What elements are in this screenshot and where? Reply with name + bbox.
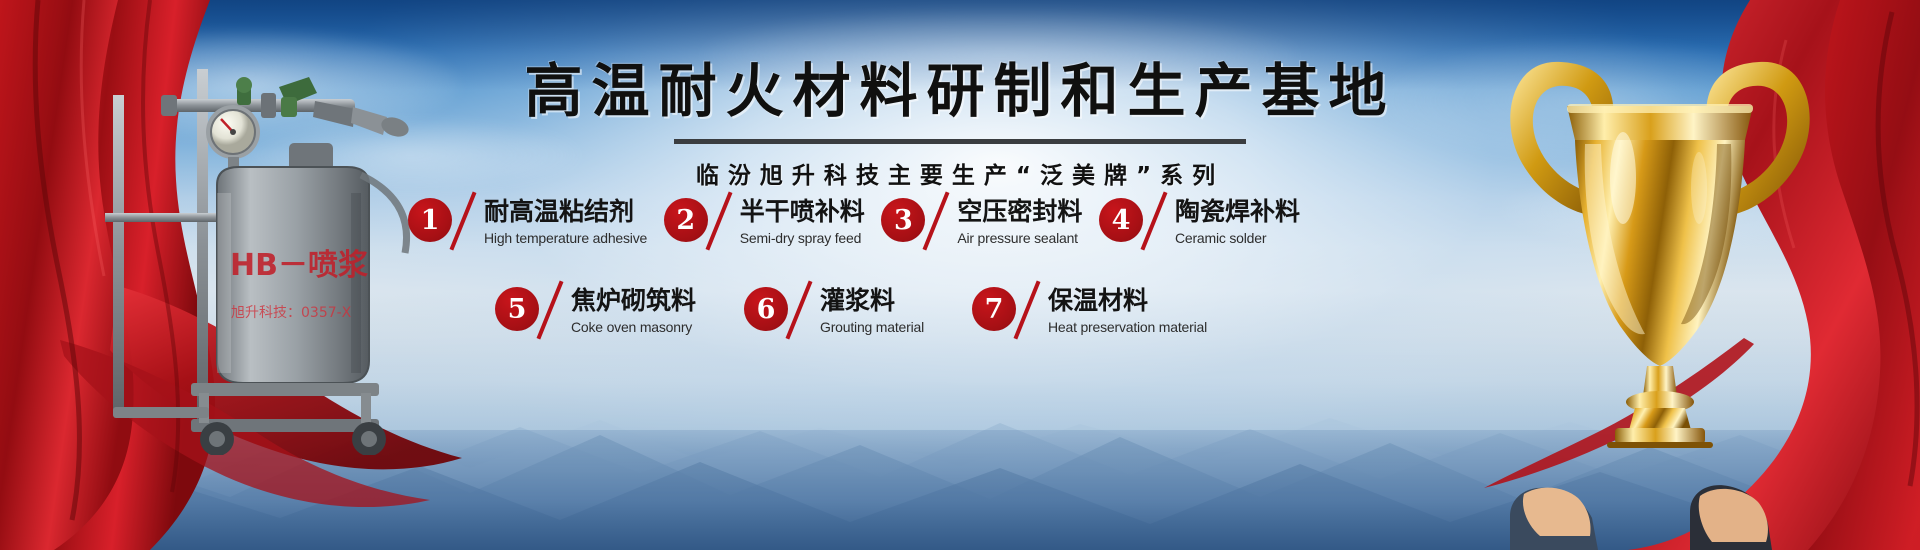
feature-item-3[interactable]: 3 空压密封料 Air pressure sealant — [881, 198, 1082, 254]
feature-number-badge: 5 — [495, 287, 539, 333]
feature-number-badge: 2 — [664, 198, 708, 244]
feature-label-cn: 半干喷补料 — [740, 198, 865, 226]
feature-number-badge: 1 — [408, 198, 452, 244]
slash-icon — [1014, 287, 1040, 343]
slash-icon — [537, 287, 563, 343]
feature-number-badge: 6 — [744, 287, 788, 333]
feature-number: 7 — [972, 287, 1016, 331]
feature-labels: 耐高温粘结剂 High temperature adhesive — [484, 198, 647, 246]
spacer — [696, 287, 744, 343]
feature-item-6[interactable]: 6 灌浆料 Grouting material — [744, 287, 924, 343]
feature-labels: 半干喷补料 Semi-dry spray feed — [740, 198, 865, 246]
feature-label-en: Ceramic solder — [1175, 230, 1300, 246]
feature-row-1: 1 耐高温粘结剂 High temperature adhesive 2 半干喷… — [0, 198, 1300, 254]
feature-label-cn: 焦炉砌筑料 — [571, 287, 696, 315]
feature-labels: 保温材料 Heat preservation material — [1048, 287, 1207, 335]
feature-row-2: 5 焦炉砌筑料 Coke oven masonry 6 灌浆料 Grouting… — [0, 287, 1300, 343]
page-subtitle: 临汾旭升科技主要生产“泛美牌”系列 — [0, 156, 1920, 190]
headline-block: 高温耐火材料研制和生产基地 临汾旭升科技主要生产“泛美牌”系列 — [0, 62, 1920, 190]
feature-labels: 焦炉砌筑料 Coke oven masonry — [571, 287, 696, 335]
feature-labels: 陶瓷焊补料 Ceramic solder — [1175, 198, 1300, 246]
feature-label-cn: 耐高温粘结剂 — [484, 198, 647, 226]
feature-item-2[interactable]: 2 半干喷补料 Semi-dry spray feed — [664, 198, 865, 254]
feature-label-en: Air pressure sealant — [957, 230, 1082, 246]
slash-icon — [450, 198, 476, 254]
feature-number: 6 — [744, 287, 788, 331]
spacer — [865, 198, 882, 254]
slash-icon — [706, 198, 732, 254]
feature-number-badge: 4 — [1099, 198, 1143, 244]
feature-item-7[interactable]: 7 保温材料 Heat preservation material — [972, 287, 1207, 343]
feature-number-badge: 3 — [881, 198, 925, 244]
feature-label-cn: 空压密封料 — [957, 198, 1082, 226]
spacer — [647, 198, 664, 254]
spacer — [1082, 198, 1099, 254]
slash-icon — [1141, 198, 1167, 254]
page-title: 高温耐火材料研制和生产基地 — [0, 62, 1920, 120]
feature-number: 4 — [1099, 198, 1143, 242]
feature-number: 2 — [664, 198, 708, 242]
spacer — [924, 287, 972, 343]
feature-item-5[interactable]: 5 焦炉砌筑料 Coke oven masonry — [495, 287, 696, 343]
feature-labels: 空压密封料 Air pressure sealant — [957, 198, 1082, 246]
slash-icon — [786, 287, 812, 343]
feature-item-1[interactable]: 1 耐高温粘结剂 High temperature adhesive — [408, 198, 647, 254]
promotional-banner: HB－喷浆 旭升科技：0357-X — [0, 0, 1920, 550]
feature-label-cn: 灌浆料 — [820, 287, 924, 315]
feature-label-cn: 陶瓷焊补料 — [1175, 198, 1300, 226]
feature-number: 1 — [408, 198, 452, 242]
feature-label-en: High temperature adhesive — [484, 230, 647, 246]
feature-item-4[interactable]: 4 陶瓷焊补料 Ceramic solder — [1099, 198, 1300, 254]
slash-icon — [923, 198, 949, 254]
feature-label-cn: 保温材料 — [1048, 287, 1207, 315]
feature-number: 3 — [881, 198, 925, 242]
feature-label-en: Semi-dry spray feed — [740, 230, 865, 246]
feature-list: 1 耐高温粘结剂 High temperature adhesive 2 半干喷… — [0, 198, 1300, 343]
title-divider — [674, 139, 1246, 144]
feature-number-badge: 7 — [972, 287, 1016, 333]
feature-number: 5 — [495, 287, 539, 331]
hands-holding-trophy — [1500, 440, 1800, 550]
feature-label-en: Grouting material — [820, 319, 924, 335]
feature-label-en: Coke oven masonry — [571, 319, 696, 335]
feature-labels: 灌浆料 Grouting material — [820, 287, 924, 335]
feature-label-en: Heat preservation material — [1048, 319, 1207, 335]
